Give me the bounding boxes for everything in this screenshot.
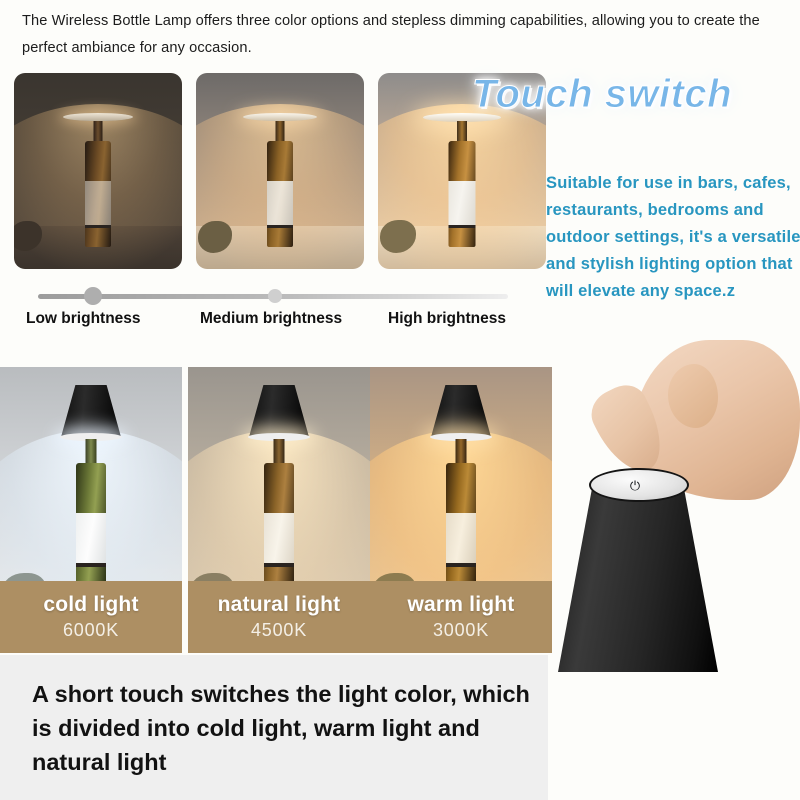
bottle-label-line: [264, 563, 294, 567]
color-temperature-cell-natural: natural light 4500K: [188, 367, 370, 653]
lamp-disc: [63, 113, 133, 121]
slider-handle-low[interactable]: [84, 287, 102, 305]
bottle-neck: [457, 121, 467, 143]
lamp-base: [558, 482, 718, 672]
brightness-label-medium: Medium brightness: [200, 310, 342, 328]
product-detail-page: The Wireless Bottle Lamp offers three co…: [0, 0, 800, 800]
color-temperature-name: warm light: [407, 593, 514, 617]
lamp-disc: [243, 113, 317, 121]
bottle-label-line: [449, 225, 476, 228]
bottle-label: [449, 181, 476, 225]
color-temperature-grid: cold light 6000K natural light 4500K: [0, 367, 550, 653]
bottle-label-line: [446, 563, 476, 567]
intro-paragraph: The Wireless Bottle Lamp offers three co…: [22, 8, 782, 62]
color-temperature-value: 4500K: [251, 620, 307, 641]
brightness-label-low: Low brightness: [26, 310, 141, 328]
touch-switch-title: Touch switch: [472, 72, 732, 117]
color-temperature-bar: cold light 6000K: [0, 581, 182, 653]
color-temperature-bar: warm light 3000K: [370, 581, 552, 653]
brightness-slider[interactable]: [0, 286, 545, 308]
bottle-label: [267, 181, 293, 225]
color-temperature-cell-warm: warm light 3000K: [370, 367, 552, 653]
power-icon[interactable]: ⏻: [628, 479, 642, 493]
slider-handle-medium[interactable]: [268, 289, 282, 303]
bottle-label: [76, 513, 106, 565]
photo-scene: [14, 73, 182, 269]
color-temperature-name: natural light: [218, 593, 341, 617]
bottle-label-line: [267, 225, 293, 228]
color-temperature-value: 3000K: [433, 620, 489, 641]
bottle-label-line: [76, 563, 106, 567]
color-temperature-cell-cold: cold light 6000K: [0, 367, 182, 653]
touch-switch-paragraph: Suitable for use in bars, cafes, restaur…: [546, 170, 800, 305]
caption-panel: A short touch switches the light color, …: [0, 655, 548, 800]
brightness-label-row: Low brightness Medium brightness High br…: [0, 310, 545, 334]
bottle-label: [446, 513, 476, 565]
bottle-label: [264, 513, 294, 565]
color-temperature-value: 6000K: [63, 620, 119, 641]
color-temperature-bar: natural light 4500K: [188, 581, 370, 653]
bottle-label-line: [85, 225, 111, 228]
photo-scene: [196, 73, 364, 269]
bottle-label: [85, 181, 111, 225]
brightness-label-high: High brightness: [388, 310, 506, 328]
bottle-neck: [94, 121, 103, 143]
caption-text: A short touch switches the light color, …: [32, 677, 532, 779]
hand-knuckles: [668, 364, 718, 428]
color-temperature-name: cold light: [43, 593, 138, 617]
brightness-photo-medium: [196, 73, 364, 269]
bottle-neck: [276, 121, 285, 143]
brightness-photo-low: [14, 73, 182, 269]
touch-demo-photo: ⏻: [540, 340, 800, 700]
